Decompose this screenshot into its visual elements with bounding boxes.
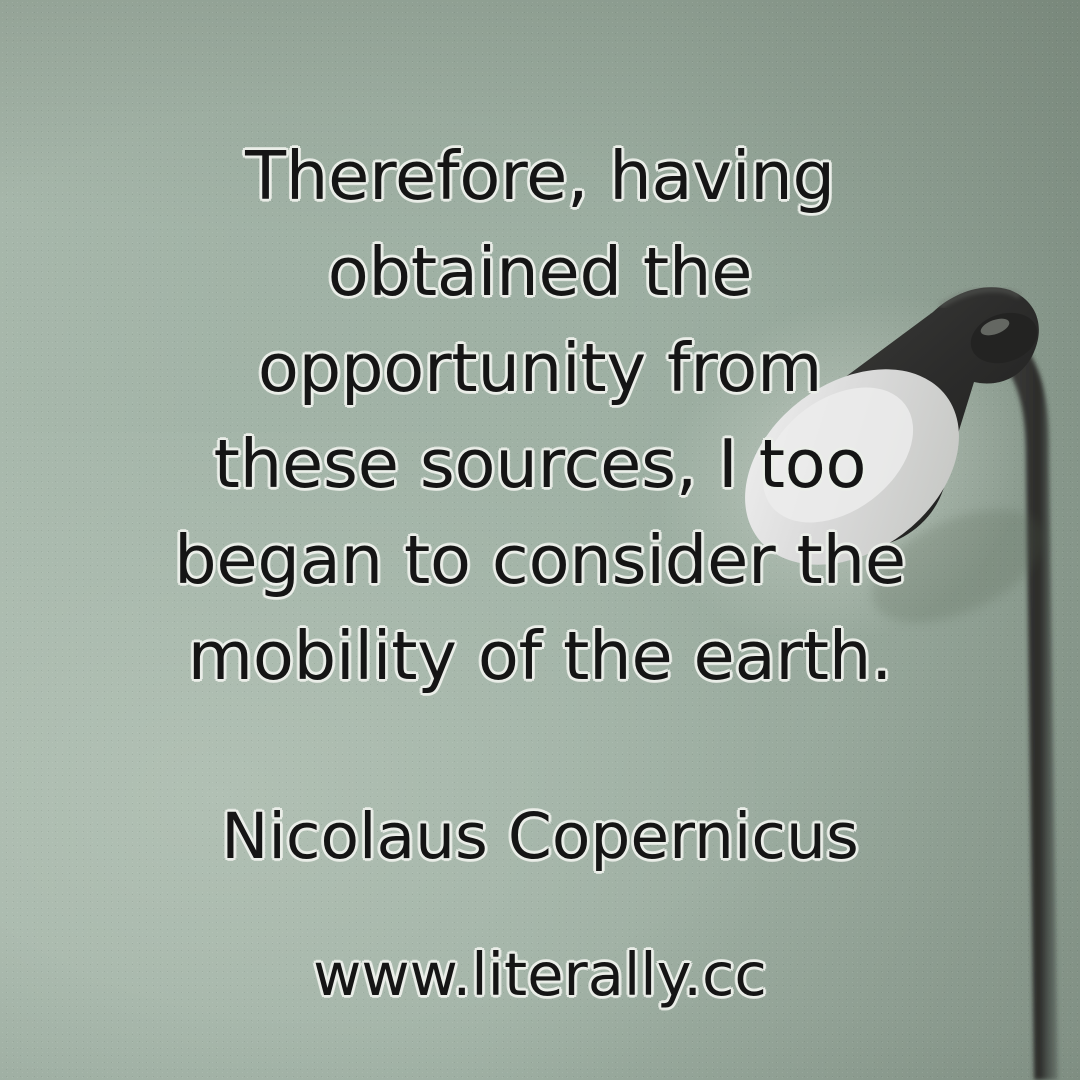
quote-card: Therefore, having obtained the opportuni… — [0, 0, 1080, 1080]
quote-line: opportunity from — [60, 320, 1020, 416]
quote-line: Therefore, having — [60, 128, 1020, 224]
quote-line: mobility of the earth. — [60, 608, 1020, 704]
site-watermark: www.literally.cc — [313, 940, 767, 1010]
text-content: Therefore, having obtained the opportuni… — [0, 0, 1080, 1080]
quote-text: Therefore, having obtained the opportuni… — [60, 128, 1020, 704]
quote-line: these sources, I too — [60, 416, 1020, 512]
quote-line: began to consider the — [60, 512, 1020, 608]
quote-author: Nicolaus Copernicus — [221, 800, 859, 874]
quote-line: obtained the — [60, 224, 1020, 320]
